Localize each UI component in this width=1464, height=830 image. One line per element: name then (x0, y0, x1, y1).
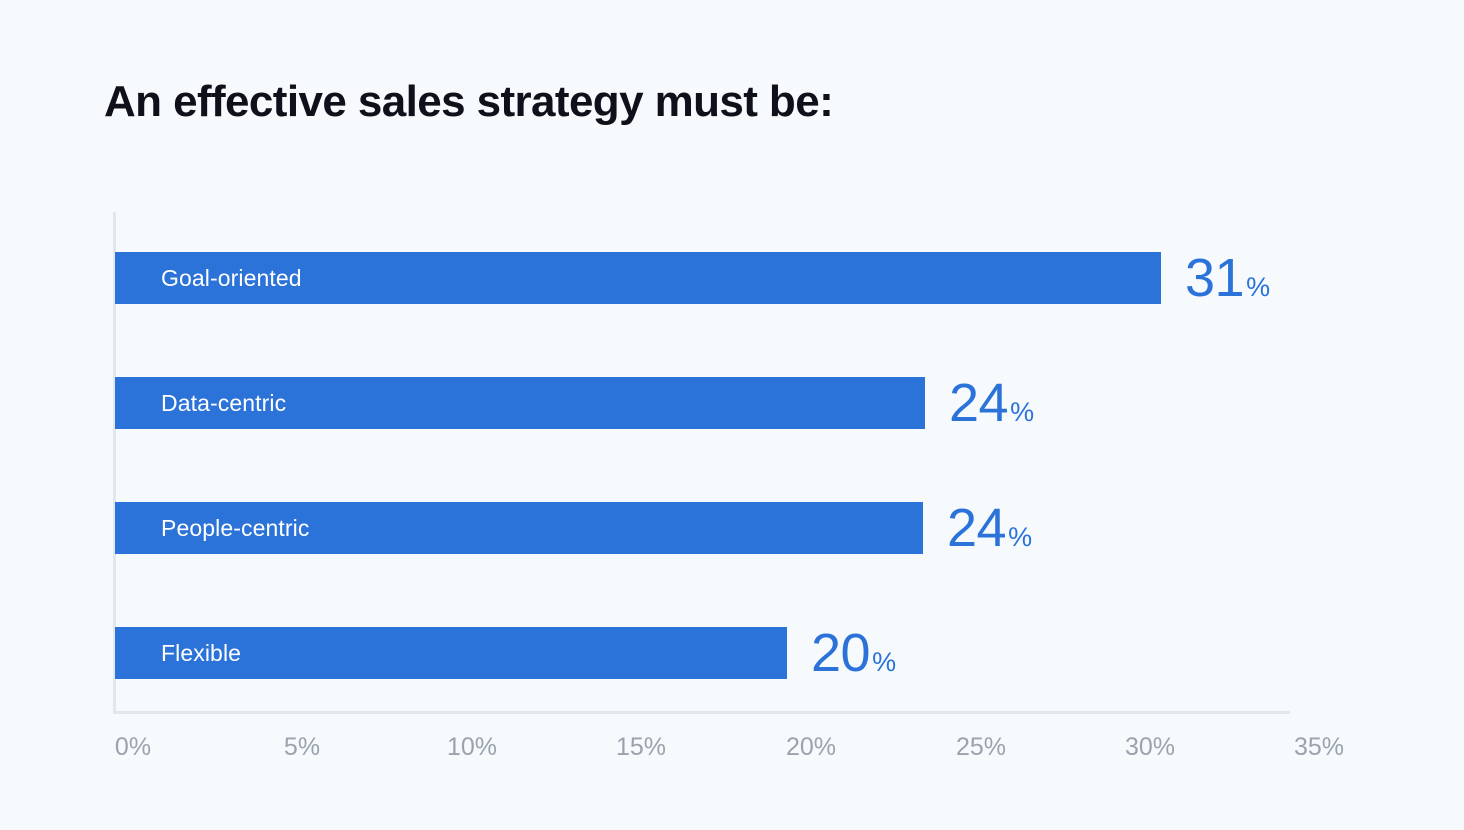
bar-category-label: Goal-oriented (161, 252, 302, 304)
bar-value-number: 24 (949, 376, 1008, 430)
bar-category-label: Data-centric (161, 377, 286, 429)
plot-area: Goal-oriented 31 % Data-centric 24 % Peo… (113, 212, 1290, 714)
bar-value-label: 24 % (947, 501, 1032, 555)
bar-value-label: 24 % (949, 376, 1034, 430)
x-tick-label: 15% (616, 733, 666, 762)
bar-value-percent-sign: % (1246, 274, 1270, 301)
bar-value-number: 24 (947, 501, 1006, 555)
x-tick-label: 5% (284, 733, 320, 762)
chart-page: An effective sales strategy must be: Goa… (0, 0, 1464, 830)
bar-value-number: 20 (811, 626, 870, 680)
bar-category-label: Flexible (161, 627, 241, 679)
x-tick-label: 35% (1294, 733, 1344, 762)
bar-value-label: 20 % (811, 626, 896, 680)
bar-value-percent-sign: % (872, 649, 896, 676)
x-tick-label: 0% (115, 733, 151, 762)
bar-category-label: People-centric (161, 502, 309, 554)
bar-value-percent-sign: % (1010, 399, 1034, 426)
x-axis-tick-labels: 0% 5% 10% 15% 20% 25% 30% 35% (113, 733, 1333, 773)
x-tick-label: 10% (447, 733, 497, 762)
bar-value-label: 31 % (1185, 251, 1270, 305)
x-tick-label: 30% (1125, 733, 1175, 762)
x-tick-label: 25% (956, 733, 1006, 762)
x-axis-line (113, 711, 1290, 714)
x-tick-label: 20% (786, 733, 836, 762)
bar-value-percent-sign: % (1008, 524, 1032, 551)
page-title: An effective sales strategy must be: (104, 78, 833, 126)
bar-value-number: 31 (1185, 251, 1244, 305)
bar-series: Goal-oriented 31 % Data-centric 24 % Peo… (115, 212, 1290, 711)
